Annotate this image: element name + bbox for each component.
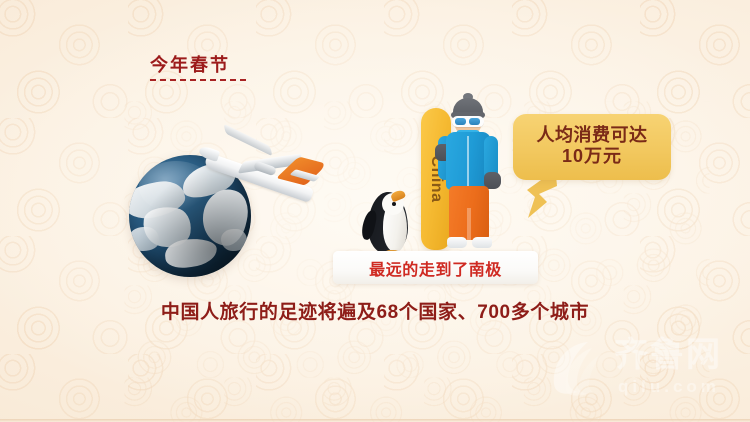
watermark-logo: 齐鲁网 qilu.com — [548, 334, 744, 406]
penguin-beak — [390, 189, 406, 203]
goggles-left-lens — [455, 118, 466, 125]
watermark-brand-cn: 齐鲁网 — [614, 338, 722, 372]
speech-bubble: 人均消费可达 10万元 — [513, 114, 671, 180]
page-title-block: 今年春节 — [150, 56, 246, 81]
page-title: 今年春节 — [150, 56, 246, 74]
infographic-canvas: 今年春节 China — [0, 0, 750, 422]
penguin-eye — [392, 202, 396, 206]
bubble-line-1: 人均消费可达 — [521, 125, 663, 146]
goggles-right-lens — [469, 118, 480, 125]
airplane-nose — [198, 145, 220, 162]
airplane-far-wing — [224, 124, 273, 157]
main-caption: 中国人旅行的足迹将遍及68个国家、700多个城市 — [0, 297, 750, 324]
snowboarder-goggles — [452, 116, 484, 127]
penguin-icon — [361, 188, 415, 256]
snowboarder-figure — [432, 96, 504, 256]
antarctica-callout: 最远的走到了南极 — [333, 251, 538, 284]
airplane-icon — [196, 118, 326, 196]
title-dashed-underline — [150, 79, 246, 81]
main-caption-text: 中国人旅行的足迹将遍及68个国家、700多个城市 — [161, 297, 589, 324]
antarctica-callout-text: 最远的走到了南极 — [369, 256, 502, 280]
snowboarder-jacket-zipper — [467, 136, 469, 186]
swoosh-icon — [548, 338, 610, 398]
watermark-brand-en: qilu.com — [618, 378, 720, 395]
bubble-line-2: 10万元 — [521, 146, 663, 167]
snowboarder-left-boot — [447, 237, 467, 248]
snowboarder-right-boot — [472, 237, 492, 248]
snowboarder-leg-separation — [467, 208, 471, 240]
